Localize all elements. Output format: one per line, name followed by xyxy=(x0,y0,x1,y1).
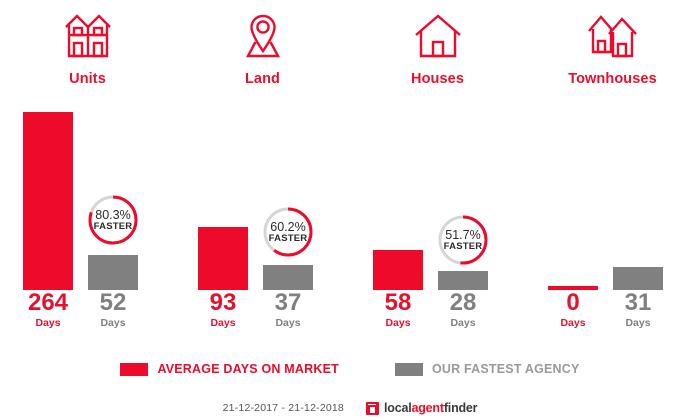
value-fastest-agency: 31 Days xyxy=(613,290,663,330)
value-average-days: 58 Days xyxy=(373,290,423,330)
value-unit: Days xyxy=(548,316,598,330)
category-label: Houses xyxy=(411,71,464,87)
value-number: 52 xyxy=(88,290,138,316)
bar-average-days[interactable] xyxy=(23,112,73,290)
values-houses: 58 Days 28 Days xyxy=(350,290,525,335)
faster-percent: 80.3% xyxy=(95,209,130,222)
value-number: 28 xyxy=(438,290,488,316)
value-unit: Days xyxy=(88,316,138,330)
chart-footer: 21-12-2017 - 21-12-2018 localagentfinder xyxy=(0,396,700,420)
legend-label: OUR FASTEST AGENCY xyxy=(432,362,580,376)
value-number: 58 xyxy=(373,290,423,316)
value-unit: Days xyxy=(198,316,248,330)
value-average-days: 93 Days xyxy=(198,290,248,330)
value-unit: Days xyxy=(23,316,73,330)
bar-group-houses: 51.7% FASTER xyxy=(350,100,525,290)
bar-group-land: 60.2% FASTER xyxy=(175,100,350,290)
value-number: 0 xyxy=(548,290,598,316)
bars-plot-area: 80.3% FASTER 60.2% FASTER xyxy=(0,100,700,290)
faster-word: FASTER xyxy=(269,234,308,244)
bar-average-days[interactable] xyxy=(198,227,248,290)
date-range-label: 21-12-2017 - 21-12-2018 xyxy=(223,402,344,414)
value-fastest-agency: 52 Days xyxy=(88,290,138,330)
localagentfinder-mark-icon xyxy=(366,402,379,415)
value-fastest-agency: 28 Days xyxy=(438,290,488,330)
faster-badge[interactable]: 51.7% FASTER xyxy=(436,213,490,267)
value-unit: Days xyxy=(263,316,313,330)
faster-word: FASTER xyxy=(444,242,483,252)
category-units: Units xyxy=(0,0,175,100)
value-number: 37 xyxy=(263,290,313,316)
legend-swatch-red xyxy=(120,363,148,376)
category-townhouses: Townhouses xyxy=(525,0,700,100)
category-land: Land xyxy=(175,0,350,100)
faster-badge-text: 80.3% FASTER xyxy=(86,193,140,247)
values-units: 264 Days 52 Days xyxy=(0,290,175,335)
faster-badge-text: 60.2% FASTER xyxy=(261,205,315,259)
localagentfinder-logo[interactable]: localagentfinder xyxy=(366,401,477,415)
brand-local: local xyxy=(384,401,412,415)
value-average-days: 264 Days xyxy=(23,290,73,330)
bar-group-units: 80.3% FASTER xyxy=(0,100,175,290)
value-unit: Days xyxy=(373,316,423,330)
chart-legend: AVERAGE DAYS ON MARKET OUR FASTEST AGENC… xyxy=(0,356,700,382)
faster-badge-text: 51.7% FASTER xyxy=(436,213,490,267)
category-houses: Houses xyxy=(350,0,525,100)
faster-word: FASTER xyxy=(94,222,133,232)
brand-agent: agent xyxy=(411,401,443,415)
values-land: 93 Days 37 Days xyxy=(175,290,350,335)
house-icon xyxy=(412,10,464,62)
legend-item-fastest-agency[interactable]: OUR FASTEST AGENCY xyxy=(395,362,580,376)
bar-fastest-agency[interactable] xyxy=(88,255,138,290)
bar-average-days[interactable] xyxy=(373,250,423,290)
brand-finder: finder xyxy=(444,401,478,415)
faster-badge[interactable]: 80.3% FASTER xyxy=(86,193,140,247)
value-unit: Days xyxy=(438,316,488,330)
faster-percent: 60.2% xyxy=(270,221,305,234)
category-label: Land xyxy=(245,71,280,87)
duplex-units-icon xyxy=(62,10,114,62)
value-labels-row: 264 Days 52 Days 93 Days 37 Days 58 Days xyxy=(0,290,700,335)
category-label: Townhouses xyxy=(568,71,657,87)
category-header-row: Units Land Houses xyxy=(0,0,700,100)
value-unit: Days xyxy=(613,316,663,330)
value-fastest-agency: 37 Days xyxy=(263,290,313,330)
days-on-market-chart: Units Land Houses xyxy=(0,0,700,420)
value-number: 31 xyxy=(613,290,663,316)
bar-fastest-agency[interactable] xyxy=(613,267,663,290)
legend-swatch-gray xyxy=(395,363,423,376)
map-pin-land-icon xyxy=(237,10,289,62)
values-townhouses: 0 Days 31 Days xyxy=(525,290,700,335)
value-number: 264 xyxy=(23,290,73,316)
faster-percent: 51.7% xyxy=(445,229,480,242)
faster-badge[interactable]: 60.2% FASTER xyxy=(261,205,315,259)
bar-fastest-agency[interactable] xyxy=(438,271,488,290)
value-number: 93 xyxy=(198,290,248,316)
townhouses-icon xyxy=(585,10,641,62)
brand-wordmark: localagentfinder xyxy=(384,401,477,415)
bar-fastest-agency[interactable] xyxy=(263,265,313,290)
value-average-days: 0 Days xyxy=(548,290,598,330)
bar-group-townhouses xyxy=(525,100,700,290)
legend-item-average-days[interactable]: AVERAGE DAYS ON MARKET xyxy=(120,362,339,376)
category-label: Units xyxy=(69,71,106,87)
legend-label: AVERAGE DAYS ON MARKET xyxy=(157,362,339,376)
